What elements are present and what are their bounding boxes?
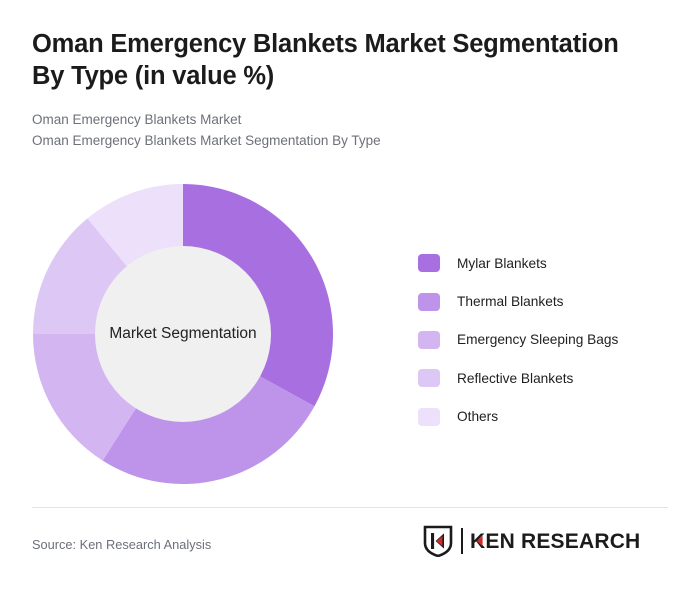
ken-research-logo: KEN RESEARCH [423,524,670,558]
donut-chart: Market Segmentation [33,184,333,484]
chart-area: Market Segmentation Mylar BlanketsTherma… [0,160,700,500]
subtitle-segmentation: Oman Emergency Blankets Market Segmentat… [32,130,652,151]
chart-header: Oman Emergency Blankets Market Segmentat… [32,28,652,151]
logo-divider [461,528,463,554]
ken-research-shield-icon [423,525,453,557]
legend-item[interactable]: Others [418,398,618,436]
chart-card: Oman Emergency Blankets Market Segmentat… [0,0,700,591]
legend-label: Thermal Blankets [457,294,564,309]
legend-item[interactable]: Thermal Blankets [418,282,618,320]
source-note: Source: Ken Research Analysis [32,537,211,552]
legend-swatch-icon [418,293,440,311]
page-title: Oman Emergency Blankets Market Segmentat… [32,28,652,93]
legend-swatch-icon [418,254,440,272]
legend-label: Mylar Blankets [457,256,547,271]
legend-item[interactable]: Emergency Sleeping Bags [418,321,618,359]
legend-item[interactable]: Reflective Blankets [418,359,618,397]
donut-center-hole [95,246,271,422]
legend-swatch-icon [418,408,440,426]
breadcrumb: Oman Emergency Blankets Market Oman Emer… [32,109,652,151]
subtitle-market: Oman Emergency Blankets Market [32,109,652,130]
legend-item[interactable]: Mylar Blankets [418,244,618,282]
legend-swatch-icon [418,331,440,349]
footer-divider [32,507,668,508]
donut-svg [33,184,333,484]
legend-swatch-icon [418,369,440,387]
chart-legend: Mylar BlanketsThermal BlanketsEmergency … [418,244,618,436]
svg-text:KEN RESEARCH: KEN RESEARCH [470,530,640,553]
logo-wordmark-icon: KEN RESEARCH [470,529,670,553]
legend-label: Emergency Sleeping Bags [457,332,618,347]
legend-label: Others [457,409,498,424]
legend-label: Reflective Blankets [457,371,573,386]
